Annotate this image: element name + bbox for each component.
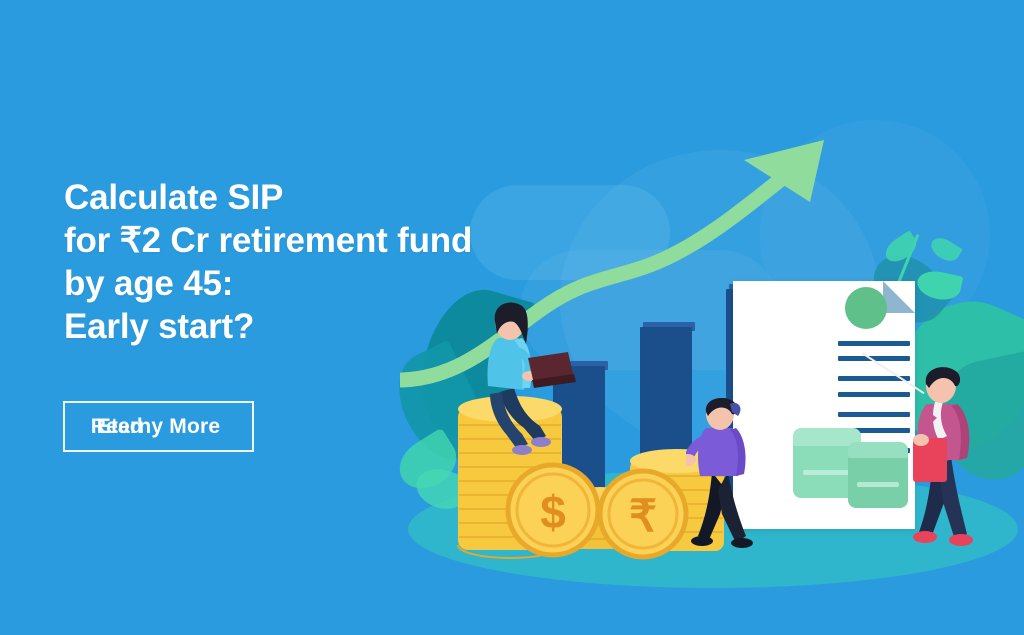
document-text-line xyxy=(838,341,910,346)
coin-dollar-icon: $ xyxy=(505,462,601,558)
promo-banner: $ ₹ xyxy=(0,0,1024,635)
read-more-ghost-label: Read xyxy=(91,415,143,439)
wallet-strip xyxy=(857,482,899,487)
document-text-line xyxy=(838,412,910,417)
man-pink-jacket xyxy=(905,360,995,560)
wallet-flap xyxy=(848,442,908,458)
read-more-button[interactable]: Read Eterny More xyxy=(63,401,254,452)
plant-leaf-icon xyxy=(927,233,963,265)
document-seal-icon xyxy=(845,287,887,329)
wallet-strip xyxy=(803,470,851,475)
svg-text:₹: ₹ xyxy=(629,492,657,541)
coin-rupee-icon: ₹ xyxy=(597,468,689,560)
read-more-label: Read Eterny More xyxy=(97,415,221,439)
svg-text:$: $ xyxy=(540,486,566,538)
page-title: Calculate SIP for ₹2 Cr retirement fund … xyxy=(64,176,472,348)
man-purple-sweater xyxy=(686,398,772,560)
document-text-line xyxy=(838,392,910,397)
woman-with-laptop xyxy=(470,300,580,460)
